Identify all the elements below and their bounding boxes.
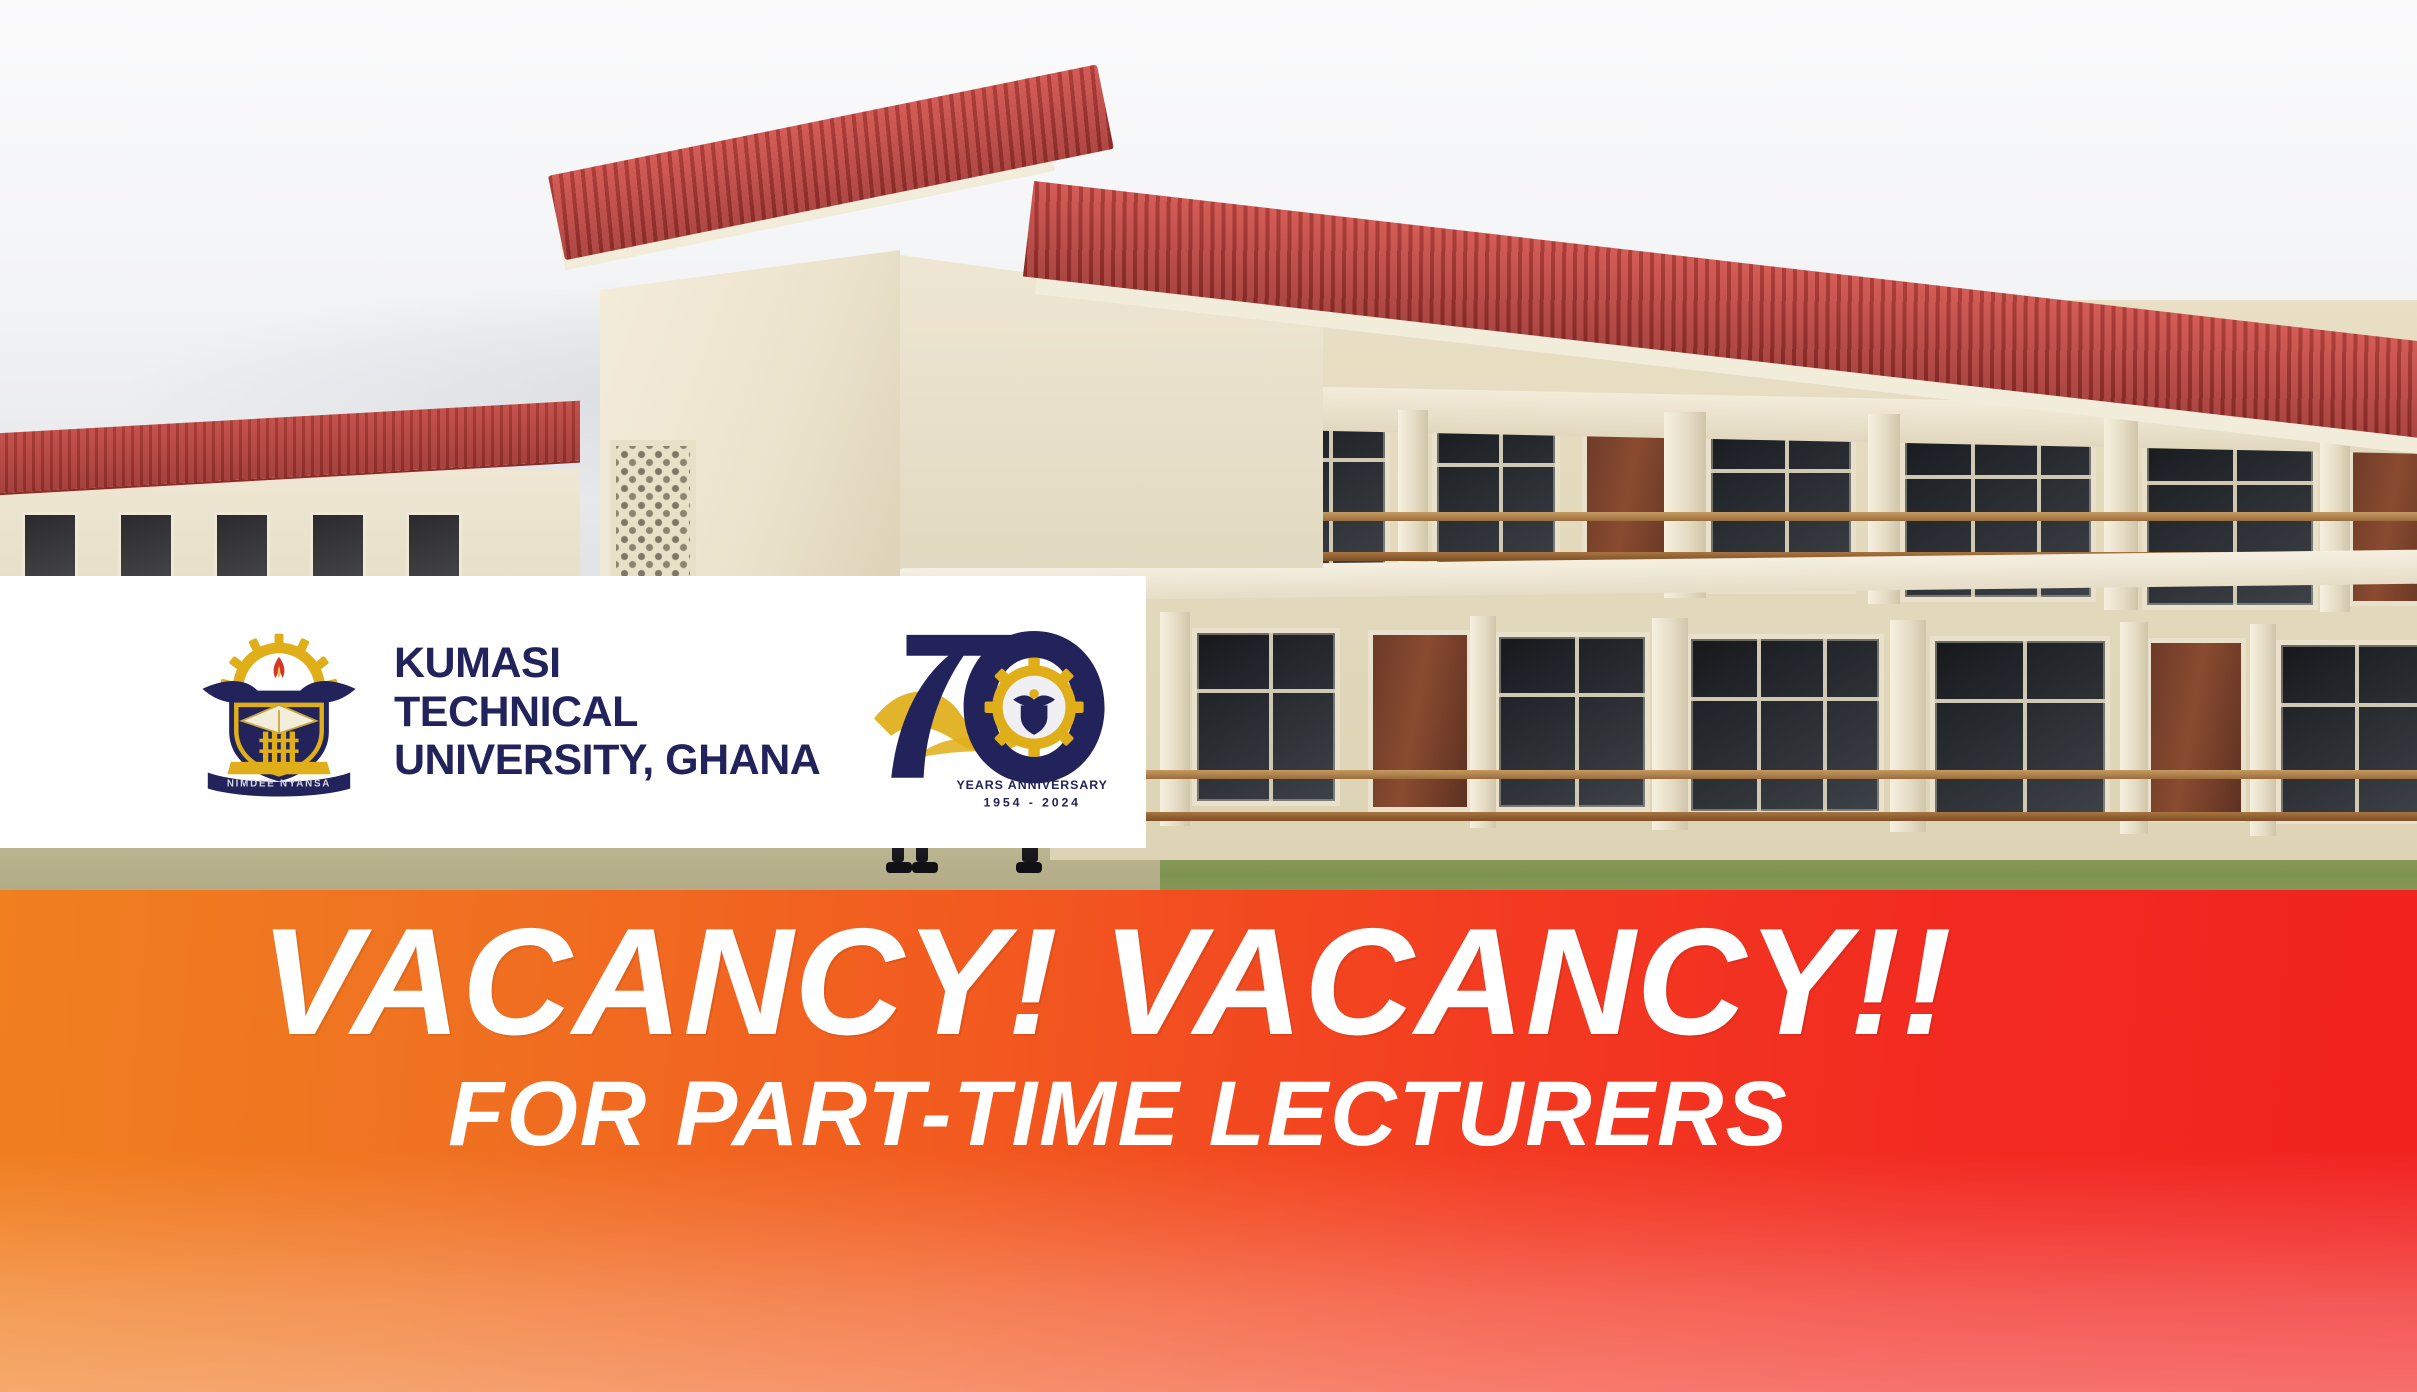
headline-text: VACANCY! VACANCY!! [260, 906, 1953, 1058]
porch-column [2250, 624, 2276, 836]
porch-column [2120, 622, 2148, 834]
veranda-rail-lower [1140, 770, 2417, 779]
anniversary-dates-text: 1954 - 2024 [984, 795, 1081, 809]
subheadline-text: FOR PART-TIME LECTURERS [448, 1068, 1789, 1160]
university-crest-icon: NIMDEE NYANSA [190, 623, 368, 801]
lower-window [1930, 636, 2110, 820]
lower-window [1494, 632, 1650, 812]
lower-window [1686, 634, 1884, 816]
porch-column [1160, 612, 1190, 826]
anniversary-70-logo-icon: YEARS ANNIVERSARY 1954 - 2024 [872, 612, 1120, 812]
person-shoe [1016, 862, 1042, 873]
svg-text:NIMDEE NYANSA: NIMDEE NYANSA [227, 779, 331, 790]
poster-root: NIMDEE NYANSA KUMASI TECHNICAL UNIVERSIT… [0, 0, 2417, 1392]
lower-door [1368, 630, 1472, 812]
lower-window [1192, 628, 1340, 806]
porch-column [1652, 618, 1688, 830]
lower-window [2276, 640, 2417, 824]
porch-column [1890, 620, 1926, 832]
person-shoe [912, 862, 938, 873]
lower-door [2146, 638, 2246, 822]
porch-column [1470, 616, 1496, 828]
person-shoe [886, 862, 912, 873]
logo-panel: NIMDEE NYANSA KUMASI TECHNICAL UNIVERSIT… [0, 576, 1146, 848]
veranda-rail-lower [1140, 812, 2417, 821]
anniversary-caption-text: YEARS ANNIVERSARY [957, 778, 1108, 792]
university-name-text: KUMASI TECHNICAL UNIVERSITY, GHANA [394, 639, 820, 785]
